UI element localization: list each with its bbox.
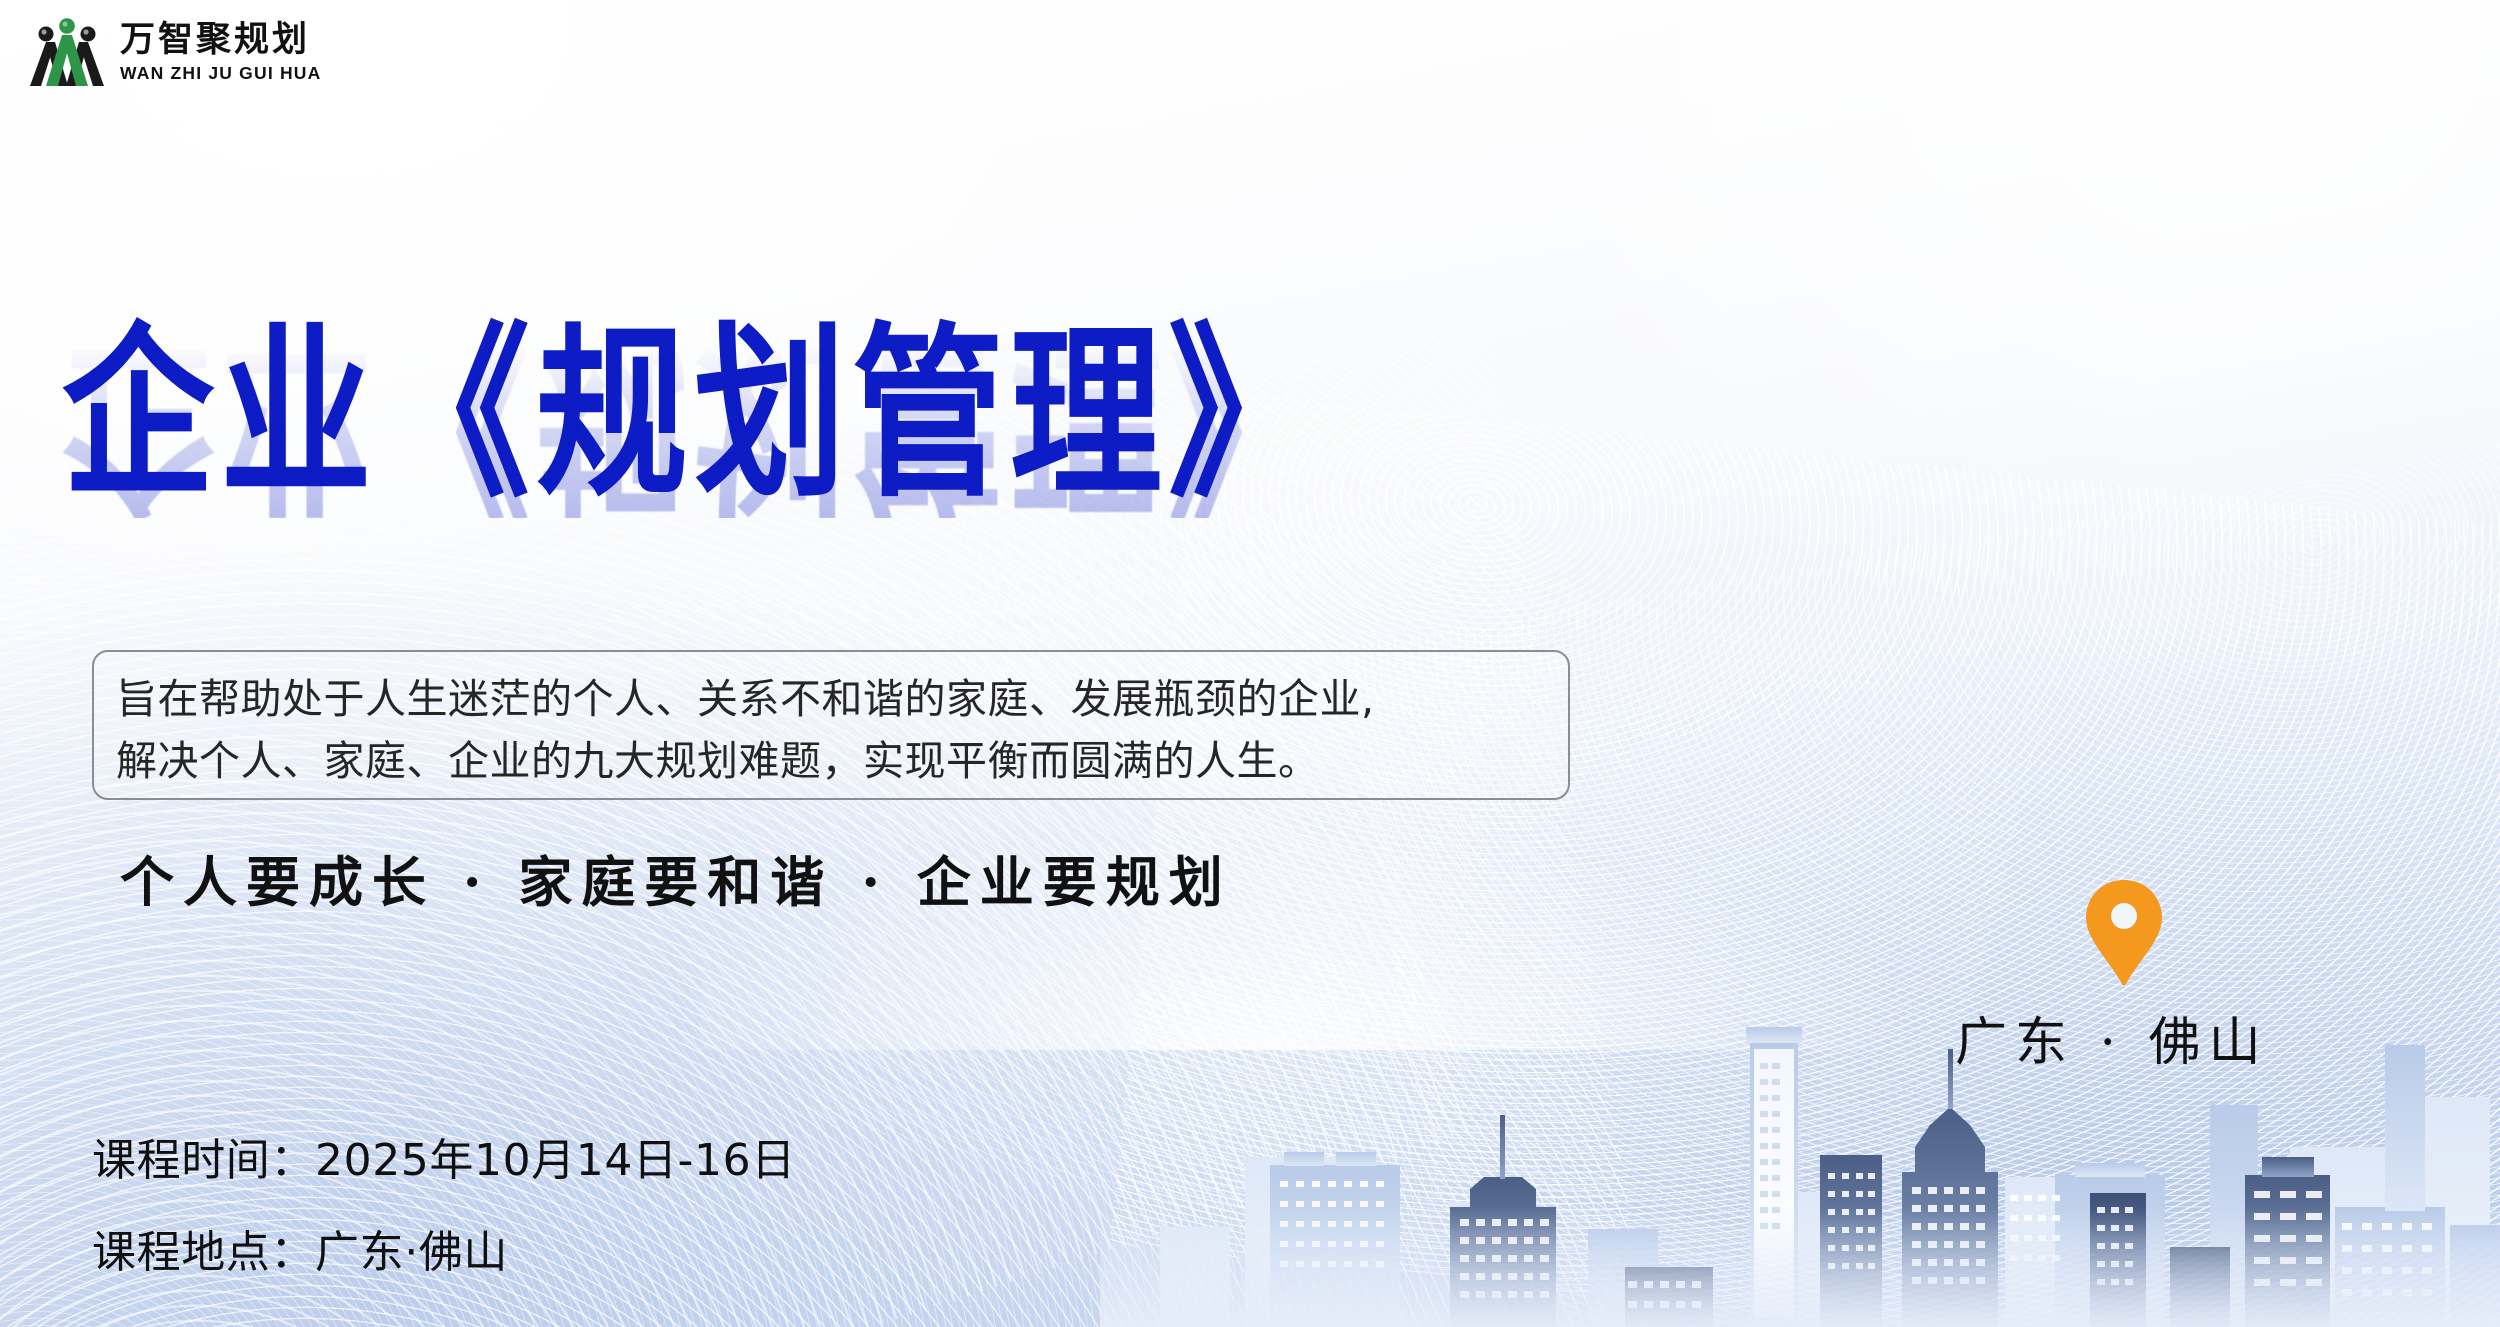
course-info-block: 课程时间：2025年10月14日-16日 课程地点：广东·佛山 bbox=[92, 1124, 796, 1280]
brand-name-en: WAN ZHI JU GUI HUA bbox=[120, 65, 321, 83]
map-pin-icon bbox=[2082, 878, 2166, 988]
three-people-logo-icon bbox=[28, 16, 106, 90]
description-line-2: 解决个人、家庭、企业的九大规划难题，实现平衡而圆满的人生。 bbox=[116, 730, 1546, 792]
brand-logo: 万智聚规划 WAN ZHI JU GUI HUA bbox=[28, 16, 321, 90]
description-line-1: 旨在帮助处于人生迷茫的个人、关系不和谐的家庭、发展瓶颈的企业, bbox=[116, 668, 1546, 730]
description-box: 旨在帮助处于人生迷茫的个人、关系不和谐的家庭、发展瓶颈的企业, 解决个人、家庭、… bbox=[92, 650, 1570, 800]
brand-text: 万智聚规划 WAN ZHI JU GUI HUA bbox=[120, 23, 321, 83]
course-date-line: 课程时间：2025年10月14日-16日 bbox=[92, 1124, 796, 1188]
glow-top-right bbox=[1460, 0, 2500, 700]
page-title-reflection: 企业《规划管理》 bbox=[62, 333, 1326, 518]
slogan-text: 个人要成长 · 家庭要和谐 · 企业要规划 bbox=[120, 838, 1232, 917]
headline-block: 企业《规划管理》 企业《规划管理》 bbox=[62, 322, 1562, 474]
brand-name-cn: 万智聚规划 bbox=[120, 23, 321, 58]
location-city-label: 广东 · 佛山 bbox=[1955, 1000, 2269, 1075]
city-skyline-silhouette-icon bbox=[1150, 997, 2500, 1327]
course-place-line: 课程地点：广东·佛山 bbox=[92, 1216, 796, 1280]
poster-canvas: 万智聚规划 WAN ZHI JU GUI HUA 企业《规划管理》 企业《规划管… bbox=[0, 0, 2500, 1327]
